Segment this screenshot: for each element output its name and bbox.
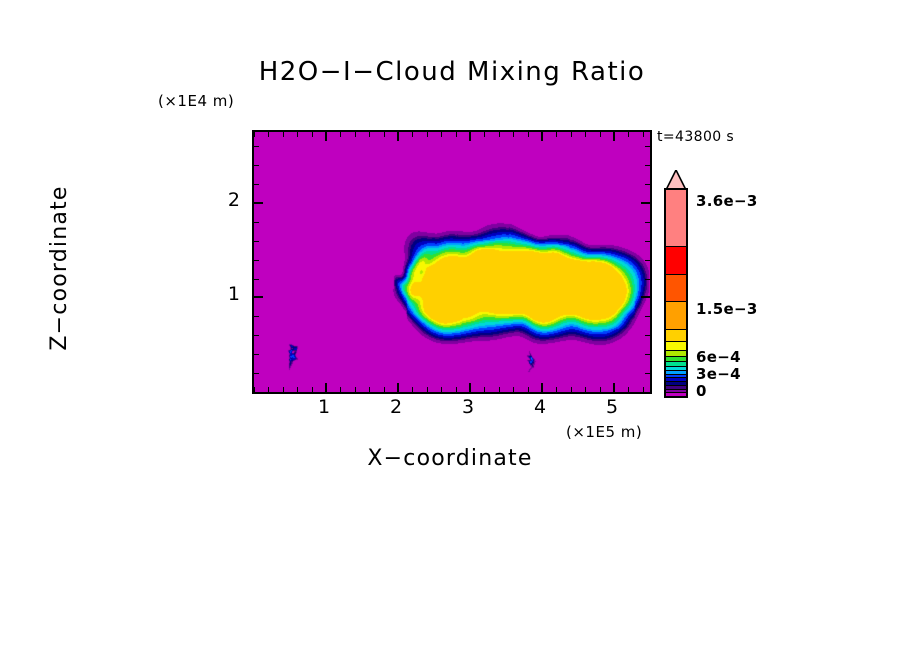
x-minor-tick xyxy=(340,387,341,392)
y-major-tick xyxy=(254,202,263,204)
colorbar-band-divider xyxy=(666,341,686,342)
y-tick-label: 2 xyxy=(212,189,240,211)
colorbar-band-divider xyxy=(666,274,686,275)
page-title: H2O−I−Cloud Mixing Ratio xyxy=(0,57,904,87)
y-tick-label: 1 xyxy=(212,283,240,305)
contour-plot-area[interactable] xyxy=(252,130,652,394)
y-minor-tick xyxy=(254,165,259,166)
x-minor-tick xyxy=(297,387,298,392)
y-minor-tick xyxy=(645,165,650,166)
x-minor-tick xyxy=(369,387,370,392)
x-minor-tick xyxy=(384,387,385,392)
x-major-tick xyxy=(469,132,471,141)
x-minor-tick xyxy=(312,387,313,392)
y-minor-tick xyxy=(254,316,259,317)
colorbar-band xyxy=(666,274,686,302)
y-minor-tick xyxy=(254,373,259,374)
y-minor-tick xyxy=(254,392,259,393)
timestamp-annotation: t=43800 s xyxy=(657,129,734,145)
x-minor-tick xyxy=(600,387,601,392)
x-axis-title: X−coordinate xyxy=(252,446,648,471)
x-tick-label: 2 xyxy=(376,396,416,418)
y-minor-tick xyxy=(254,335,259,336)
colorbar-band-divider xyxy=(666,385,686,386)
x-minor-tick xyxy=(643,387,644,392)
x-minor-tick xyxy=(355,387,356,392)
x-major-tick xyxy=(541,383,543,392)
colorbar-tick-label: 3e−4 xyxy=(696,365,741,383)
colorbar-band-divider xyxy=(666,329,686,330)
x-minor-tick xyxy=(283,387,284,392)
x-minor-tick xyxy=(513,132,514,137)
x-minor-tick xyxy=(600,132,601,137)
y-minor-tick xyxy=(254,354,259,355)
colorbar-tick-label: 0 xyxy=(696,382,707,400)
colorbar-tick-label: 6e−4 xyxy=(696,348,741,366)
x-minor-tick xyxy=(528,387,529,392)
colorbar-arrow-icon xyxy=(664,170,688,190)
x-minor-tick xyxy=(484,132,485,137)
x-major-tick xyxy=(541,132,543,141)
x-minor-tick xyxy=(499,132,500,137)
colorbar-band xyxy=(666,190,686,247)
y-minor-tick xyxy=(254,279,259,280)
colorbar-band-divider xyxy=(666,392,686,393)
x-minor-tick xyxy=(283,132,284,137)
x-minor-tick xyxy=(499,387,500,392)
y-major-tick xyxy=(641,202,650,204)
x-minor-tick xyxy=(628,132,629,137)
x-minor-tick xyxy=(571,387,572,392)
colorbar-band-divider xyxy=(666,370,686,371)
y-minor-tick xyxy=(254,222,259,223)
colorbar-band-divider xyxy=(666,246,686,247)
x-tick-label: 3 xyxy=(448,396,488,418)
x-minor-tick xyxy=(628,387,629,392)
x-minor-tick xyxy=(585,387,586,392)
colorbar-band xyxy=(666,301,686,329)
figure-canvas: H2O−I−Cloud Mixing Ratio (×1E4 m) t=4380… xyxy=(0,0,904,654)
colorbar-tick-label: 1.5e−3 xyxy=(696,300,758,318)
x-minor-tick xyxy=(427,132,428,137)
x-major-tick xyxy=(613,132,615,141)
colorbar-band-divider xyxy=(666,361,686,362)
x-minor-tick xyxy=(456,387,457,392)
colorbar-band-divider xyxy=(666,381,686,382)
colorbar-band-divider xyxy=(666,389,686,390)
x-minor-tick xyxy=(297,132,298,137)
x-minor-tick xyxy=(484,387,485,392)
y-minor-tick xyxy=(645,279,650,280)
y-minor-tick xyxy=(645,335,650,336)
y-axis-unit-label: (×1E4 m) xyxy=(158,92,234,110)
y-minor-tick xyxy=(645,241,650,242)
y-minor-tick xyxy=(645,222,650,223)
x-major-tick xyxy=(469,383,471,392)
colorbar-band-divider xyxy=(666,374,686,375)
x-minor-tick xyxy=(556,387,557,392)
y-minor-tick xyxy=(254,184,259,185)
y-minor-tick xyxy=(645,184,650,185)
x-major-tick xyxy=(397,132,399,141)
y-minor-tick xyxy=(645,316,650,317)
x-minor-tick xyxy=(585,132,586,137)
x-minor-tick xyxy=(412,132,413,137)
colorbar-band xyxy=(666,246,686,274)
y-major-tick xyxy=(254,296,263,298)
colorbar-band-divider xyxy=(666,350,686,351)
x-minor-tick xyxy=(268,387,269,392)
x-minor-tick xyxy=(355,132,356,137)
x-tick-label: 4 xyxy=(520,396,560,418)
x-minor-tick xyxy=(643,132,644,137)
y-minor-tick xyxy=(645,260,650,261)
y-major-tick xyxy=(641,296,650,298)
x-minor-tick xyxy=(556,132,557,137)
contour-field xyxy=(254,132,650,392)
colorbar-bands xyxy=(664,188,688,398)
x-minor-tick xyxy=(340,132,341,137)
colorbar-band-divider xyxy=(666,301,686,302)
x-minor-tick xyxy=(268,132,269,137)
x-minor-tick xyxy=(513,387,514,392)
x-minor-tick xyxy=(369,132,370,137)
y-minor-tick xyxy=(254,146,259,147)
x-major-tick xyxy=(613,383,615,392)
x-axis-unit-label: (×1E5 m) xyxy=(566,423,642,441)
colorbar[interactable] xyxy=(664,170,688,398)
colorbar-band-divider xyxy=(666,366,686,367)
colorbar-band xyxy=(666,329,686,342)
y-axis-title: Z−coordinate xyxy=(47,118,72,418)
colorbar-band-divider xyxy=(666,377,686,378)
x-minor-tick xyxy=(441,132,442,137)
x-tick-label: 1 xyxy=(304,396,344,418)
x-minor-tick xyxy=(384,132,385,137)
y-minor-tick xyxy=(645,392,650,393)
x-minor-tick xyxy=(254,132,255,137)
x-minor-tick xyxy=(427,387,428,392)
x-major-tick xyxy=(325,383,327,392)
y-minor-tick xyxy=(645,146,650,147)
y-minor-tick xyxy=(645,354,650,355)
x-major-tick xyxy=(325,132,327,141)
x-minor-tick xyxy=(571,132,572,137)
y-minor-tick xyxy=(254,260,259,261)
x-minor-tick xyxy=(441,387,442,392)
colorbar-band-divider xyxy=(666,356,686,357)
x-minor-tick xyxy=(312,132,313,137)
colorbar-tick-label: 3.6e−3 xyxy=(696,192,758,210)
x-major-tick xyxy=(397,383,399,392)
x-minor-tick xyxy=(528,132,529,137)
x-tick-label: 5 xyxy=(592,396,632,418)
x-minor-tick xyxy=(412,387,413,392)
x-minor-tick xyxy=(456,132,457,137)
y-minor-tick xyxy=(645,373,650,374)
y-minor-tick xyxy=(254,241,259,242)
